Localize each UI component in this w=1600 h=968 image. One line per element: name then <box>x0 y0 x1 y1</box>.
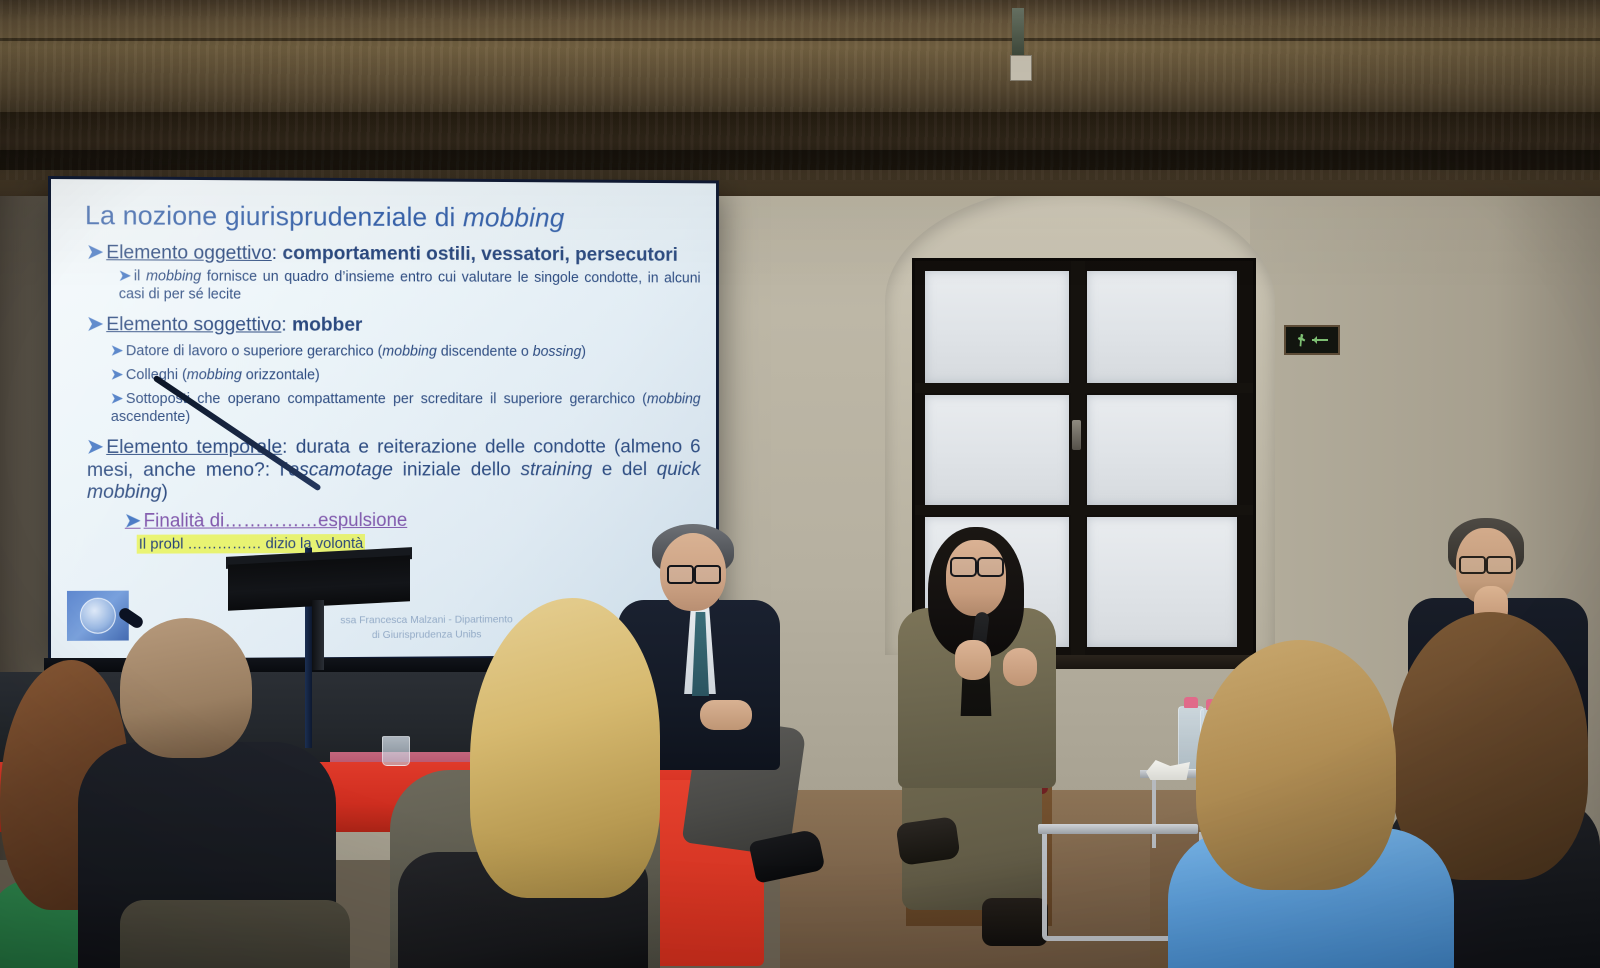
bullet-6-post: ascendente) <box>111 409 190 425</box>
bullet-1-text: comportamenti ostili, vessatori, persecu… <box>277 242 678 266</box>
bullet-7-post2: e del <box>592 458 657 480</box>
beam-metal-bracket <box>1012 8 1024 56</box>
speaker-head <box>946 540 1006 616</box>
speaker-boot-left <box>895 816 960 866</box>
audience-4-hair <box>1196 640 1396 890</box>
bullet-6-italic: mobbing <box>647 391 701 407</box>
slide-bullet-2: ➤il mobbing fornisce un quadro d’insieme… <box>119 269 701 306</box>
window-mullion-horizontal <box>915 383 1253 393</box>
university-seal-icon <box>80 598 116 634</box>
slide-final-line: ➤Finalità di……………espulsione <box>125 508 701 532</box>
window-mullion-horizontal <box>915 505 1253 515</box>
bullet-4-pre: Datore di lavoro o superiore gerarchico … <box>126 343 382 359</box>
bullet-3-header: Elemento soggettivo <box>106 313 281 335</box>
speaker-hand-left <box>955 640 991 680</box>
audience-2-head <box>120 618 252 758</box>
bullet-5-italic: mobbing <box>187 367 242 383</box>
bullet-7-post: iniziale dello <box>393 458 521 480</box>
speaker-boot-right <box>982 898 1048 946</box>
bullet-marker-icon: ➤ <box>87 241 103 263</box>
bullet-marker-icon: ➤ <box>111 391 123 407</box>
panelist-right-glasses-icon <box>1459 556 1513 570</box>
bullet-marker-icon: ➤ <box>111 367 123 383</box>
beam-paper-tag <box>1010 55 1032 81</box>
slide-bullet-1: ➤Elemento oggettivo: comportamenti ostil… <box>85 241 701 266</box>
window-pane <box>925 271 1069 383</box>
bullet-marker-icon: ➤ <box>87 436 103 458</box>
window-pane <box>1087 271 1237 383</box>
final-line-obscured: …………… <box>224 510 318 531</box>
bullet-4-italic2: bossing <box>533 344 582 360</box>
running-person-icon <box>1297 334 1308 347</box>
bullet-4-italic: mobbing <box>382 343 436 359</box>
bullet-3-text: mobber <box>287 314 363 336</box>
final-line-right: espulsione <box>318 510 407 531</box>
bullet-2-italic: mobbing <box>146 269 201 285</box>
plastic-cup <box>382 736 410 766</box>
window-mullion-vertical <box>1071 261 1085 661</box>
highlight-obscured: …………… <box>185 534 263 553</box>
panelist-left-glasses-icon <box>667 565 721 580</box>
slide-title-italic: mobbing <box>463 202 565 232</box>
lectern-stem <box>312 600 324 670</box>
side-table <box>1038 824 1198 834</box>
slide-bullet-7: ➤Elemento temporale: durata e reiterazio… <box>85 436 701 504</box>
speaker-glasses-icon <box>950 557 1004 573</box>
bullet-7-post3: ) <box>161 481 167 503</box>
window-pane <box>1087 395 1237 505</box>
window-handle-icon[interactable] <box>1072 420 1081 450</box>
bullet-7-italic2: straining <box>521 458 593 480</box>
bullet-marker-icon: ➤ <box>119 269 131 285</box>
bullet-marker-icon: ➤ <box>87 313 103 335</box>
panelist-left-hands <box>700 700 752 730</box>
audience-2-shoulder <box>120 900 350 968</box>
slide-bullet-5: ➤Colleghi (mobbing orizzontale) <box>111 366 701 385</box>
arrow-left-icon <box>1312 339 1328 341</box>
bottle-cap <box>1184 697 1198 708</box>
window-pane <box>1087 517 1237 647</box>
bullet-4-post: ) <box>581 344 586 360</box>
highlight-left: Il probl <box>137 535 186 554</box>
slide-bullet-3: ➤Elemento soggettivo: mobber <box>85 313 701 337</box>
bullet-5-post: orizzontale) <box>242 367 320 383</box>
emergency-exit-sign <box>1284 325 1340 355</box>
final-line-left: Finalità di <box>144 511 225 532</box>
speaker-hand-right <box>1003 648 1037 686</box>
bullet-2-pre: il <box>134 269 146 285</box>
bullet-2-post: fornisce un quadro d’insieme entro cui v… <box>119 269 701 302</box>
bullet-1-header: Elemento oggettivo <box>106 241 272 264</box>
window-pane <box>925 395 1069 505</box>
bullet-marker-icon: ➤ <box>125 511 141 532</box>
slide-title: La nozione giurisprudenziale di mobbing <box>85 201 701 234</box>
bullet-4-mid: discendente o <box>437 344 533 360</box>
slide-bullet-4: ➤Datore di lavoro o superiore gerarchico… <box>111 342 701 361</box>
bullet-marker-icon: ➤ <box>111 343 123 359</box>
conference-photo-scene: La nozione giurisprudenziale di mobbing … <box>0 0 1600 968</box>
slide-highlight-line: Il probl……………dizio la volontà <box>137 534 701 553</box>
bullet-6-pre: Sottoposti che operano compattamente per… <box>126 391 647 407</box>
